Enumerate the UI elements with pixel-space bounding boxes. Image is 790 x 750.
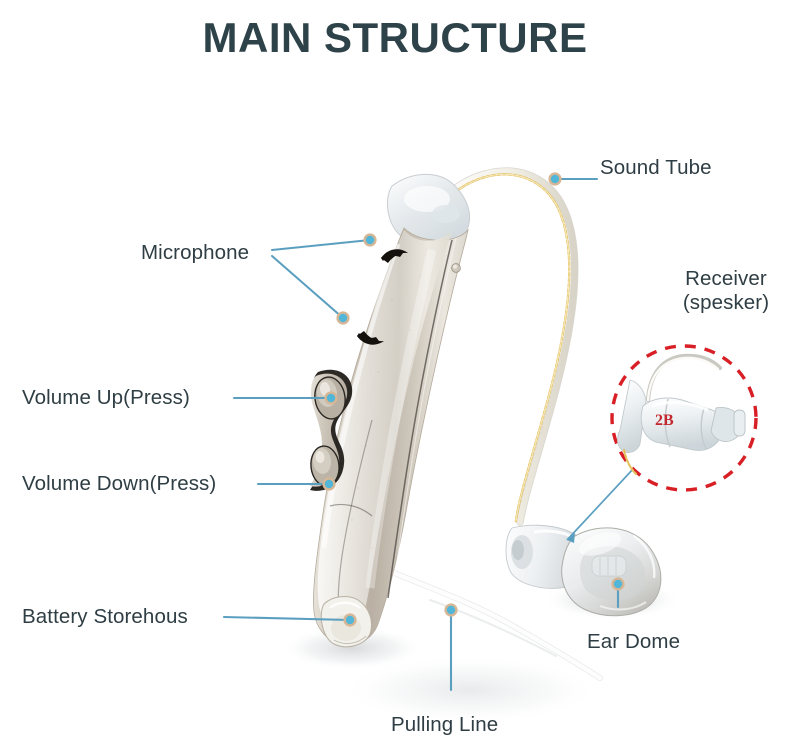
page-title: MAIN STRUCTURE <box>0 14 790 62</box>
leader-microphone-upper <box>272 240 370 250</box>
callout-receiver-line1: Receiver <box>663 267 789 291</box>
marker-sound-tube <box>548 172 561 185</box>
ear-dome-assembly <box>506 525 661 616</box>
callout-volume-up: Volume Up(Press) <box>22 386 190 410</box>
receiver-detail-callout: 2B <box>567 346 756 543</box>
callout-microphone: Microphone <box>141 241 249 265</box>
marker-volume-down <box>322 477 335 490</box>
diagram-canvas: 2B <box>0 0 790 750</box>
marker-microphone-2 <box>336 311 349 324</box>
callout-receiver-line2: (spesker) <box>663 291 789 315</box>
callout-ear-dome: Ear Dome <box>587 630 680 654</box>
marker-pulling-line <box>444 603 457 616</box>
callout-battery-storehouse: Battery Storehous <box>22 605 188 629</box>
leader-markers <box>322 172 624 626</box>
receiver-component: 2B <box>618 356 745 474</box>
marker-ear-dome <box>611 577 624 590</box>
callout-receiver: Receiver (spesker) <box>663 267 789 315</box>
callout-volume-down: Volume Down(Press) <box>22 472 216 496</box>
leader-microphone-lower <box>272 256 343 318</box>
pulling-line-art <box>392 572 600 678</box>
callout-pulling-line: Pulling Line <box>391 713 498 737</box>
marker-volume-up <box>324 391 337 404</box>
callout-sound-tube: Sound Tube <box>600 156 712 180</box>
marker-microphone-1 <box>363 233 376 246</box>
volume-rocker-button <box>309 370 352 491</box>
marker-battery <box>343 613 356 626</box>
leader-lines <box>224 179 618 690</box>
battery-compartment <box>321 597 371 647</box>
microphone-port-icons <box>357 249 408 344</box>
sound-tube-art <box>446 171 575 522</box>
hearing-aid-body <box>309 174 470 646</box>
leader-battery <box>224 617 350 620</box>
receiver-model-label: 2B <box>655 412 674 429</box>
